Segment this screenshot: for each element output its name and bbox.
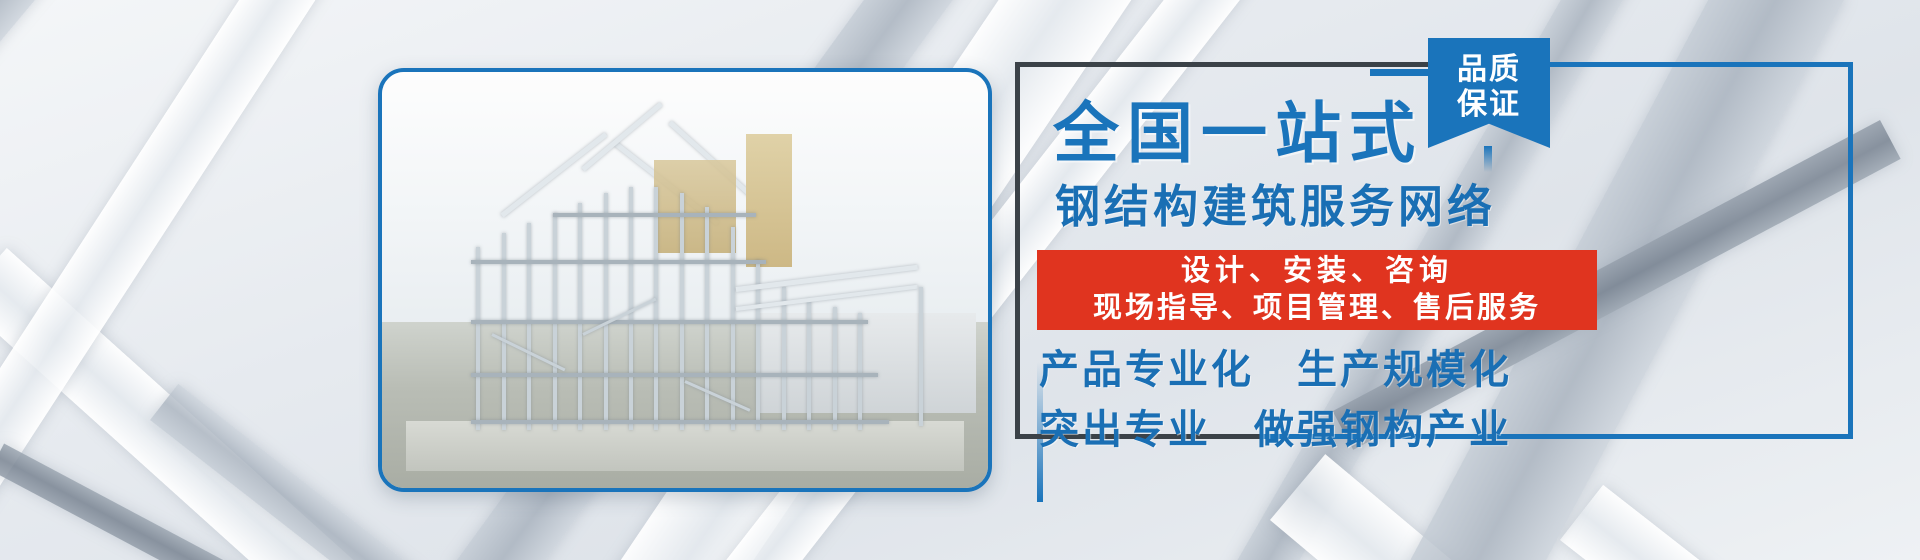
panel-headline: 全国一站式 bbox=[1053, 100, 1423, 166]
badge-line-2: 保证 bbox=[1457, 87, 1521, 122]
services-line-1: 设计、安装、咨询 bbox=[1181, 253, 1453, 290]
services-highlight-bar: 设计、安装、咨询 现场指导、项目管理、售后服务 bbox=[1037, 250, 1597, 330]
panel-subheadline: 钢结构建筑服务网络 bbox=[1055, 184, 1496, 229]
construction-photo bbox=[382, 72, 988, 488]
services-line-2: 现场指导、项目管理、售后服务 bbox=[1093, 290, 1541, 327]
panel-frame-top bbox=[1015, 62, 1485, 67]
promo-banner: 全国一站式 钢结构建筑服务网络 设计、安装、咨询 现场指导、项目管理、售后服务 … bbox=[0, 0, 1920, 560]
construction-photo-card bbox=[378, 68, 992, 492]
panel-frame-right bbox=[1848, 62, 1853, 439]
slogan-line-1: 产品专业化 生产规模化 bbox=[1039, 350, 1512, 390]
ribbon-drop-accent bbox=[1484, 146, 1492, 172]
ribbon-tail bbox=[1370, 69, 1430, 76]
badge-line-1: 品质 bbox=[1457, 52, 1521, 87]
photo-steel-house-frame bbox=[430, 114, 939, 447]
panel-frame-left bbox=[1015, 62, 1020, 438]
slogan-line-2: 突出专业 做强钢构产业 bbox=[1039, 410, 1512, 450]
